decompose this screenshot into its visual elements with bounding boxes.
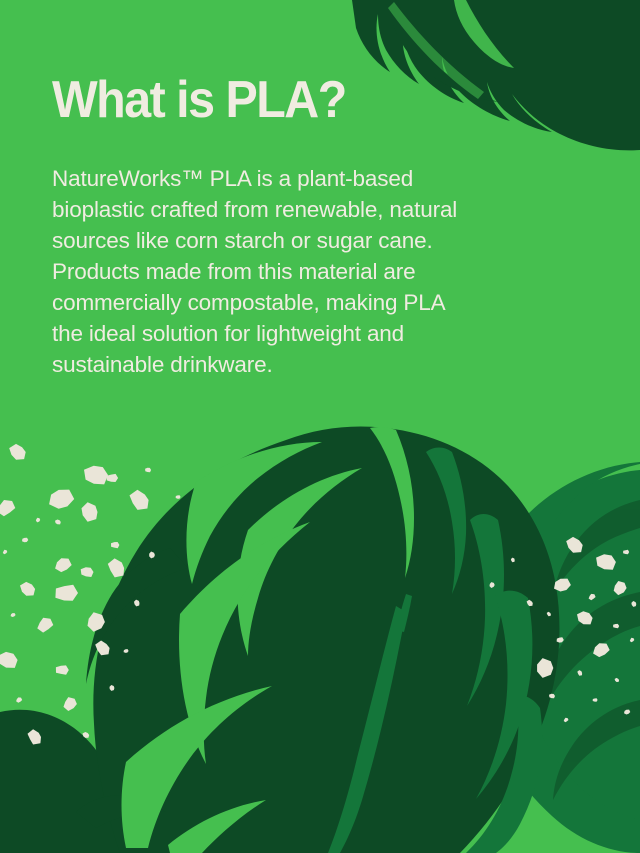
pla-info-poster: What is PLA? NatureWorks™ PLA is a plant… <box>0 0 640 853</box>
body-line: sustainable drinkware. <box>52 349 592 380</box>
body-paragraph: NatureWorks™ PLA is a plant-basedbioplas… <box>52 163 592 380</box>
body-line: Products made from this material are <box>52 256 592 287</box>
body-line: the ideal solution for lightweight and <box>52 318 592 349</box>
page-title: What is PLA? <box>52 72 346 128</box>
body-line: NatureWorks™ PLA is a plant-based <box>52 163 592 194</box>
body-line: bioplastic crafted from renewable, natur… <box>52 194 592 225</box>
body-line: sources like corn starch or sugar cane. <box>52 225 592 256</box>
body-line: commercially compostable, making PLA <box>52 287 592 318</box>
